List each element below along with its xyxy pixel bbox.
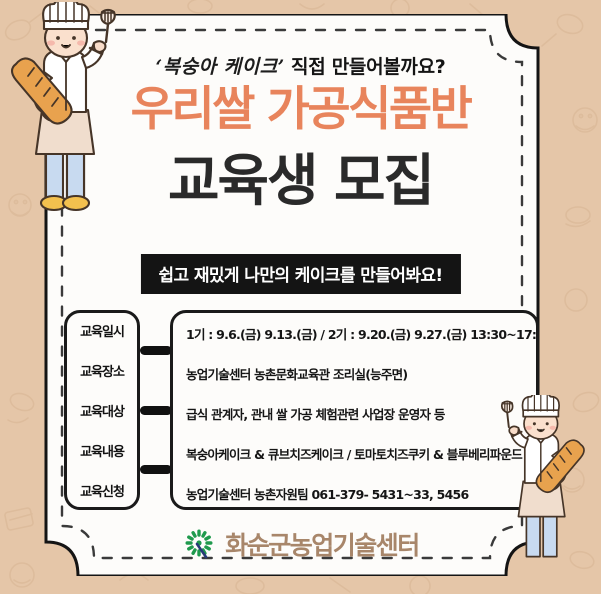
connector-bar-3	[140, 465, 172, 474]
connector-bar-1	[140, 346, 172, 355]
connector-bar-2	[140, 406, 172, 415]
info-label-education-place: 교육장소	[64, 350, 140, 390]
info-label-education-target: 교육대상	[64, 390, 140, 430]
chef-left-illustration	[2, 2, 142, 252]
info-value-education-place: 농업기술센터 농촌문화교육관 조리실(능주면)	[173, 353, 539, 393]
organization-name: 화순군농업기술센터	[225, 526, 419, 562]
poster-root: ‘복숭아 케이크’ 직접 만들어볼까요? 우리쌀 가공식품반 교육생 모집 쉽고…	[0, 0, 601, 594]
tagline-banner: 쉽고 재밌게 나만의 케이크를 만들어봐요!	[140, 254, 460, 294]
info-table: 교육일시 교육장소 교육대상 교육내용 교육신청 1기 : 9.6.(금) 9.…	[64, 310, 539, 510]
info-value-education-date: 1기 : 9.6.(금) 9.13.(금) / 2기 : 9.20.(금) 9.…	[173, 313, 539, 353]
green-sunburst-logo-icon	[182, 527, 216, 561]
info-label-education-content: 교육내용	[64, 430, 140, 470]
info-label-education-date: 교육일시	[64, 310, 140, 350]
info-label-education-apply: 교육신청	[64, 470, 140, 510]
kicker-rest-text: 직접 만들어볼까요?	[285, 56, 446, 78]
kicker-quoted-text: ‘복숭아 케이크’	[155, 56, 284, 78]
chef-right-illustration	[470, 395, 601, 594]
